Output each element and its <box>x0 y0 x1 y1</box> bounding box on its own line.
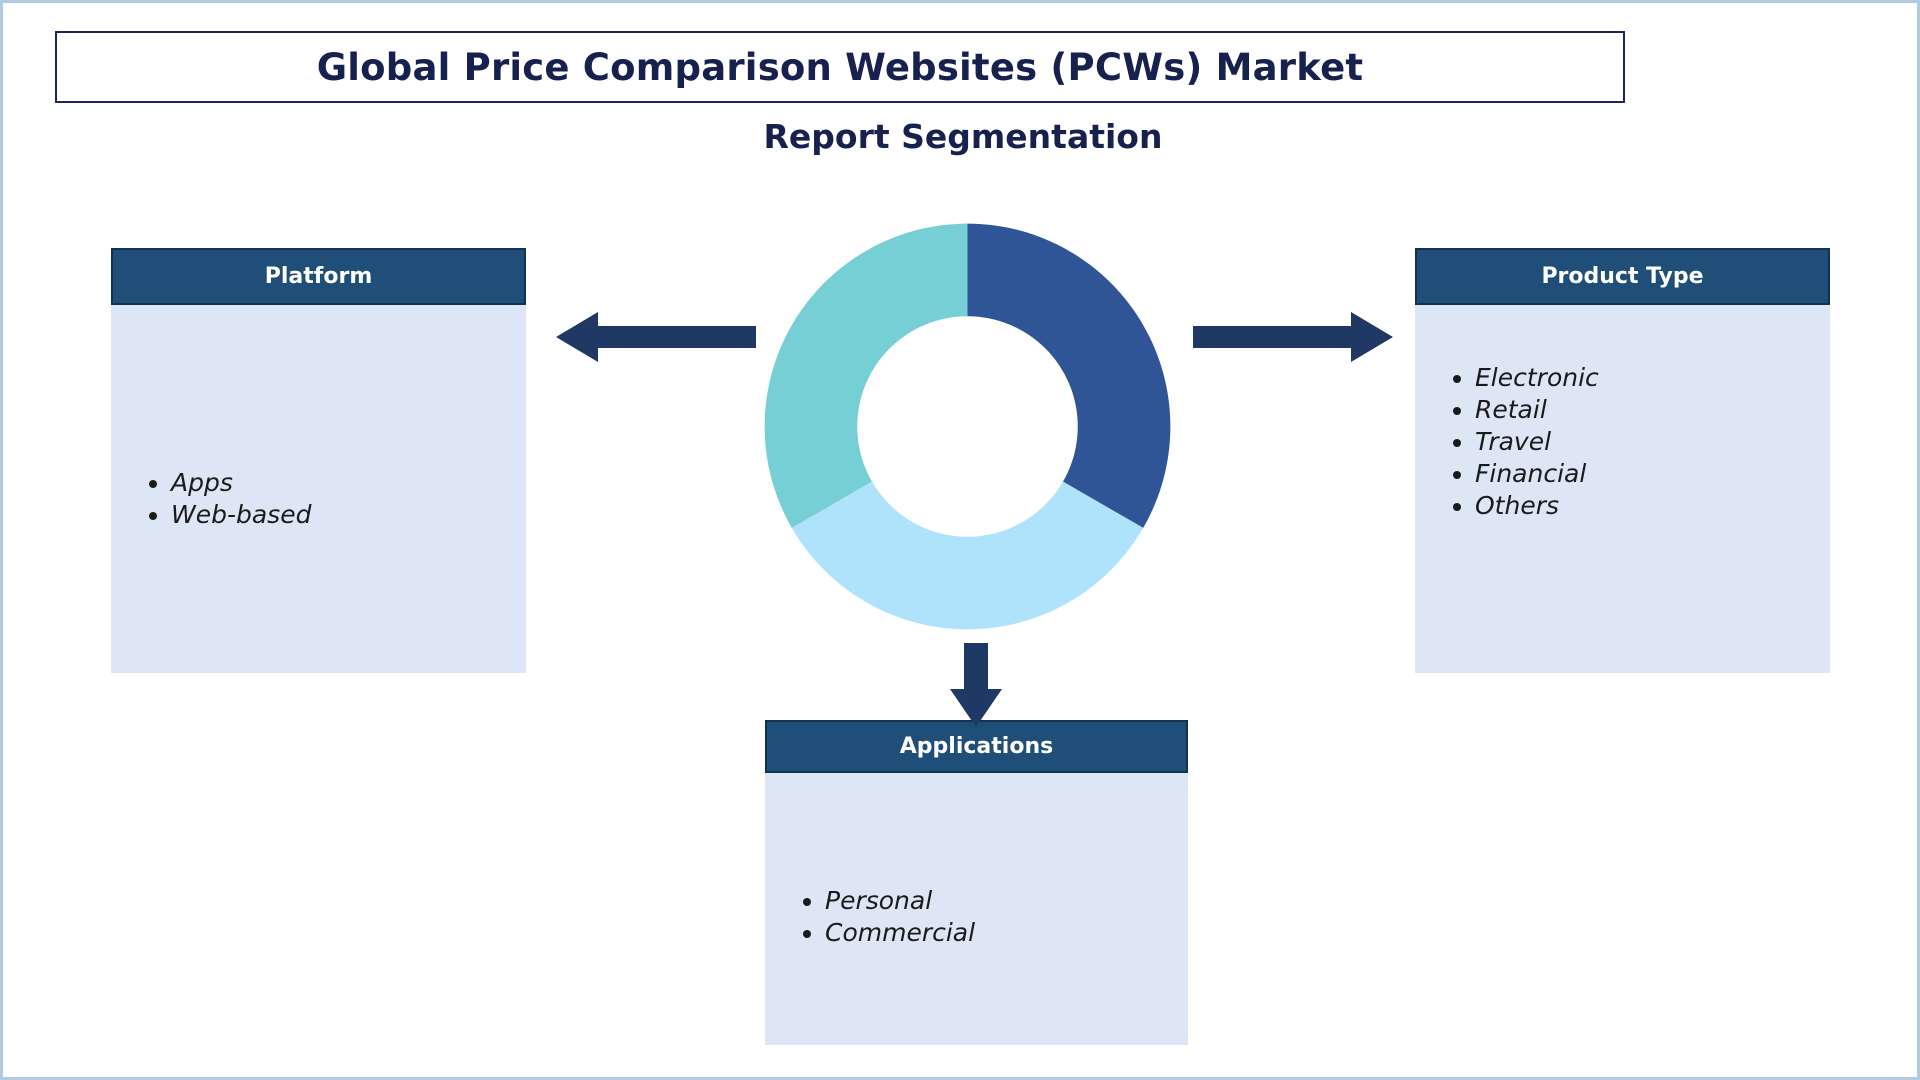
list-item: Electronic <box>1475 362 1599 394</box>
arrow-to-product-type-icon <box>1193 310 1393 364</box>
list-item: Retail <box>1475 394 1599 426</box>
panel-platform-body: Apps Web-based <box>111 305 526 673</box>
list-item: Travel <box>1475 426 1599 458</box>
donut-hole <box>857 316 1078 537</box>
panel-product-type[interactable]: Product Type Electronic Retail Travel Fi… <box>1415 248 1830 673</box>
panel-applications-list: Personal Commercial <box>779 885 975 949</box>
panel-applications-header: Applications <box>765 720 1188 773</box>
panel-platform-list: Apps Web-based <box>125 467 311 531</box>
title-box: Global Price Comparison Websites (PCWs) … <box>55 31 1625 103</box>
list-item: Web-based <box>171 499 311 531</box>
page-subtitle: Report Segmentation <box>3 117 1920 156</box>
list-item: Commercial <box>825 917 975 949</box>
panel-applications-title: Applications <box>900 734 1053 759</box>
list-item: Personal <box>825 885 975 917</box>
panel-product-type-title: Product Type <box>1541 264 1703 289</box>
panel-applications-body: Personal Commercial <box>765 773 1188 1045</box>
diagram-canvas: Global Price Comparison Websites (PCWs) … <box>0 0 1920 1080</box>
panel-platform-header: Platform <box>111 248 526 305</box>
panel-product-type-list: Electronic Retail Travel Financial Other… <box>1429 362 1599 522</box>
list-item: Apps <box>171 467 311 499</box>
segmentation-donut-chart <box>747 206 1188 647</box>
list-item: Others <box>1475 490 1599 522</box>
donut-svg <box>747 206 1188 647</box>
panel-product-type-header: Product Type <box>1415 248 1830 305</box>
panel-product-type-body: Electronic Retail Travel Financial Other… <box>1415 305 1830 673</box>
panel-platform-title: Platform <box>265 264 373 289</box>
page-title: Global Price Comparison Websites (PCWs) … <box>317 46 1364 89</box>
arrow-to-applications-icon <box>946 643 1006 727</box>
panel-applications[interactable]: Applications Personal Commercial <box>765 720 1188 1045</box>
list-item: Financial <box>1475 458 1599 490</box>
panel-platform[interactable]: Platform Apps Web-based <box>111 248 526 673</box>
arrow-to-platform-icon <box>556 310 756 364</box>
